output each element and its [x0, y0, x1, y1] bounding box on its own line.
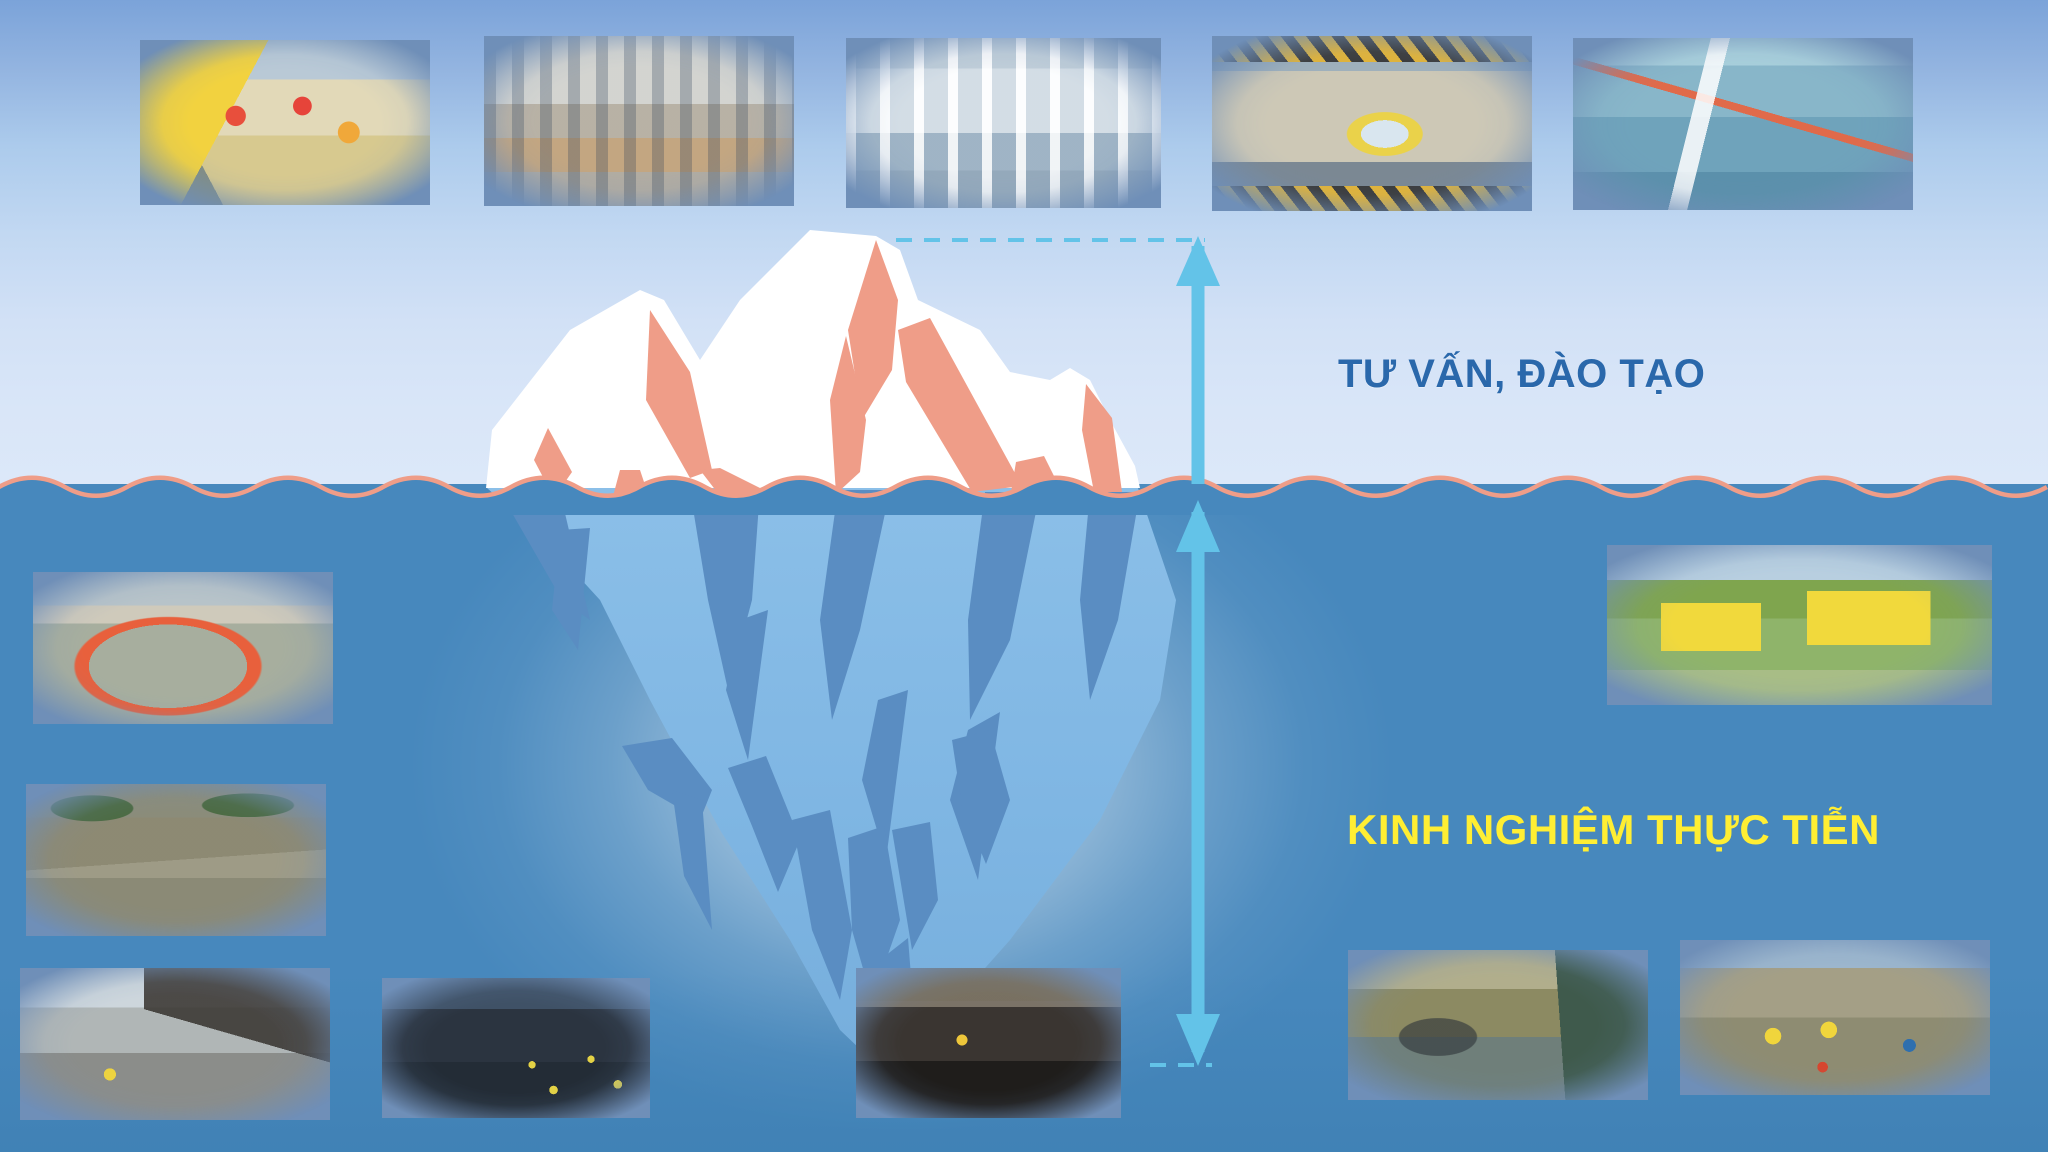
photo-field-cleanup-crew [1680, 940, 1990, 1095]
label-below-water: KINH NGHIỆM THỰC TIỄN [1347, 806, 1880, 854]
photo-sea-boom-deployment [1573, 38, 1913, 210]
photo-quay-containment-tank [1212, 36, 1532, 211]
photo-circular-boom-pond [33, 572, 333, 724]
photo-fire-aftermath-spray [20, 968, 330, 1120]
iceberg-infographic: TƯ VẤN, ĐÀO TẠO KINH NGHIỆM THỰC TIỄN [0, 0, 2048, 1152]
above-water-measure-arrow [1176, 236, 1220, 484]
photo-classroom-training [484, 36, 794, 206]
photo-aerial-river-slick [26, 784, 326, 936]
photo-river-oil-slick-boat [1348, 950, 1648, 1100]
photo-oil-spill-boat-crew [140, 40, 430, 205]
photo-hazmat-drill-outdoor [846, 38, 1161, 208]
photo-night-contaminated-field [382, 978, 650, 1118]
below-water-measure-arrow [1176, 500, 1220, 1066]
photo-response-vehicles [1607, 545, 1992, 705]
label-above-water: TƯ VẤN, ĐÀO TẠO [1338, 352, 1705, 397]
photo-burnt-interior-worker [856, 968, 1121, 1118]
